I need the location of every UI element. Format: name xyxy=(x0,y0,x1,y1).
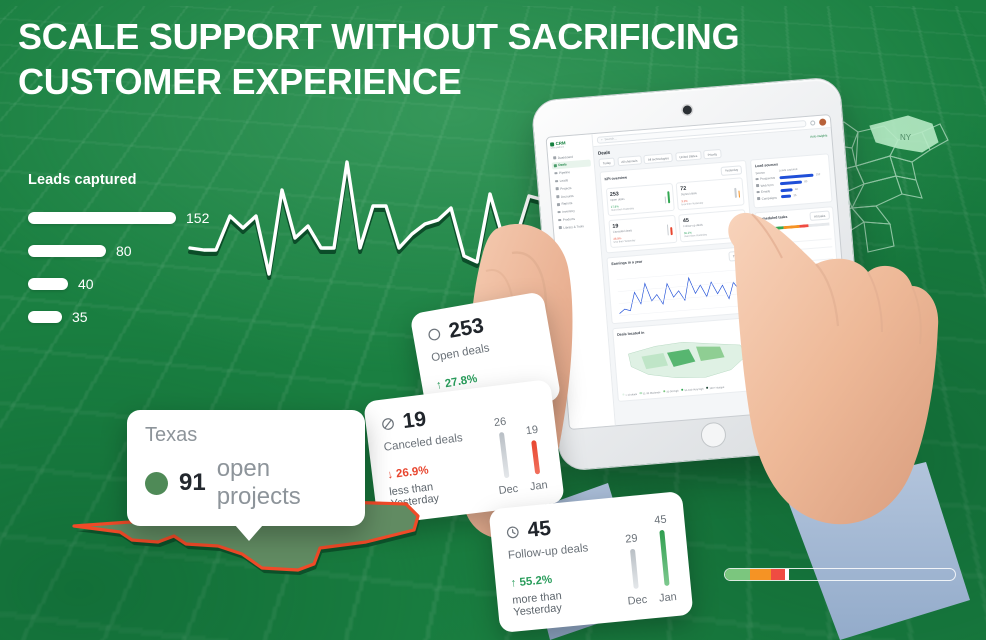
mini-bar-value: 19 xyxy=(525,424,539,437)
inventory-icon xyxy=(557,211,560,214)
kpi-label: Open deals xyxy=(610,196,633,202)
sidebar-item-label: Leads xyxy=(560,178,569,183)
card-mini-chart: 26 Dec 19 Jan xyxy=(487,394,548,497)
filter-country[interactable]: United States xyxy=(675,151,702,162)
legend-item: 31-50 High xyxy=(663,389,679,394)
circle-outline-icon xyxy=(426,326,442,342)
source-icon xyxy=(757,191,760,194)
leads-bar xyxy=(28,311,62,323)
grid-icon xyxy=(553,156,556,159)
mini-bar-group: 45 Jan xyxy=(651,513,677,604)
progress-segment-empty xyxy=(789,569,955,580)
kpi-mini-chart xyxy=(734,181,740,197)
card-number: 253 xyxy=(447,314,486,344)
pipeline-icon xyxy=(554,172,557,175)
lead-source-bar xyxy=(781,195,791,199)
search-placeholder: Search... xyxy=(604,136,616,141)
card-body: 45 Follow-up deals ↑ 55.2% more than Yes… xyxy=(505,505,678,618)
delta-value: 55.2% xyxy=(519,574,553,589)
card-label: Follow-up deals xyxy=(507,540,608,562)
texas-tooltip[interactable]: Texas 91 open projects xyxy=(127,410,365,526)
lead-source-bar xyxy=(779,173,813,179)
lead-source-bar xyxy=(780,188,792,192)
progress-segment-orange xyxy=(750,569,771,580)
mini-bar-value: 29 xyxy=(625,532,638,545)
avatar[interactable] xyxy=(819,118,827,126)
sidebar-item-label: Pipeline xyxy=(559,170,570,175)
col-leads: Leads captured xyxy=(779,168,798,172)
leads-captured-chart: Leads captured 152 80 40 35 xyxy=(28,172,248,342)
sidebar-item-label: Dashboard xyxy=(558,154,573,159)
leads-captured-title: Leads captured xyxy=(28,172,248,188)
kpi-label: Signed deals xyxy=(681,191,703,197)
leads-icon xyxy=(555,180,558,183)
sidebar-item-label: Reports xyxy=(561,201,572,206)
leads-bar-value: 152 xyxy=(186,210,209,226)
mini-bar-value: 26 xyxy=(493,416,507,429)
segmented-progress-bar[interactable] xyxy=(724,568,956,581)
card-number: 19 xyxy=(401,407,427,434)
filter-today[interactable]: Today xyxy=(598,157,615,167)
accounts-icon xyxy=(556,195,559,198)
notification-bell-icon[interactable] xyxy=(810,120,815,125)
mini-bar xyxy=(531,440,540,474)
mini-bar-group: 29 Dec xyxy=(621,532,648,608)
sidebar-item-label: Projects xyxy=(560,186,571,191)
kpi-open-deals[interactable]: 253 Open deals 27.8% more than Yesterday xyxy=(605,183,674,217)
poster-canvas: NY FL Scale support without sacrificing … xyxy=(0,0,986,640)
deals-icon xyxy=(554,164,557,167)
logo-mark-icon xyxy=(550,142,554,146)
lead-source-value: 80 xyxy=(804,180,807,183)
delta-arrow-down-icon: ↓ xyxy=(387,469,394,482)
delta-value: 26.9% xyxy=(395,465,429,481)
source-icon xyxy=(756,184,759,187)
logo-text: CRM xyxy=(555,140,565,146)
lead-source-value: 152 xyxy=(816,173,821,176)
lead-source-value: 35 xyxy=(793,194,796,197)
tooltip-value-row: 91 open projects xyxy=(145,455,347,511)
tooltip-count: 91 xyxy=(179,469,206,497)
page-heading: Deals xyxy=(598,150,611,156)
kpi-mini-chart xyxy=(666,219,672,235)
filter-channels[interactable]: All channels xyxy=(617,155,642,166)
tablet-camera-icon xyxy=(682,105,692,115)
leads-bar-row: 40 xyxy=(28,276,248,292)
leads-bar-row: 35 xyxy=(28,309,248,325)
cancel-circle-icon xyxy=(380,416,396,432)
card-mini-chart: 29 Dec 45 Jan xyxy=(619,505,677,607)
tooltip-label: open projects xyxy=(217,455,347,511)
card-followup-deals[interactable]: 45 Follow-up deals ↑ 55.2% more than Yes… xyxy=(489,491,694,633)
leads-bar-value: 80 xyxy=(116,243,132,259)
leads-bar-value: 35 xyxy=(72,309,88,325)
lead-source-value: 40 xyxy=(795,188,798,191)
col-source: Source xyxy=(755,169,776,175)
filter-priority[interactable]: Priority xyxy=(703,149,721,160)
mini-bar-value: 45 xyxy=(654,514,667,527)
kpi-mini-chart xyxy=(663,187,669,203)
svg-text:NY: NY xyxy=(900,133,912,142)
leads-bar-row: 152 xyxy=(28,210,248,226)
card-number: 45 xyxy=(527,517,553,543)
mini-bar-group: 19 Jan xyxy=(522,424,548,494)
mini-bar xyxy=(659,530,669,586)
projects-icon xyxy=(556,188,559,191)
source-icon xyxy=(756,178,759,181)
compare-selector[interactable]: Yesterday xyxy=(721,165,743,176)
reports-icon xyxy=(557,203,560,206)
mini-bar-label: Jan xyxy=(659,591,678,605)
delta-arrow-up-icon: ↑ xyxy=(435,379,443,392)
card-sub: more than Yesterday xyxy=(512,585,615,619)
mini-bar-label: Dec xyxy=(627,594,648,608)
leads-bar xyxy=(28,245,106,257)
kpi-panel-title: KPI overview xyxy=(604,175,627,181)
mini-bar-label: Dec xyxy=(498,483,519,497)
clock-icon xyxy=(505,525,520,540)
mini-bar xyxy=(630,549,639,589)
leads-bar-value: 40 xyxy=(78,276,94,292)
kpi-sub: more than Yesterday xyxy=(611,207,634,212)
auto-insights-link[interactable]: Auto insights xyxy=(810,133,827,138)
card-header: 45 xyxy=(505,511,608,545)
mini-bar xyxy=(499,432,510,478)
sidebar-item-label: Accounts xyxy=(561,193,574,198)
filter-technologies[interactable]: All technologies xyxy=(643,153,673,164)
leads-bar xyxy=(28,278,68,290)
mini-bar-group: 26 Dec xyxy=(490,415,519,497)
delta-arrow-up-icon: ↑ xyxy=(510,577,517,589)
leads-bar xyxy=(28,212,176,224)
mini-bar-label: Jan xyxy=(529,479,548,493)
search-icon: ⌕ xyxy=(601,137,603,141)
sidebar-item-label: Deals xyxy=(558,163,567,168)
leads-bar-row: 80 xyxy=(28,243,248,259)
lead-source-bar xyxy=(780,181,802,186)
sidebar-item-label: Inventory xyxy=(562,209,575,214)
status-dot-icon xyxy=(145,472,168,495)
progress-segment-green xyxy=(725,569,750,580)
progress-segment-red xyxy=(771,569,785,580)
tooltip-state-name: Texas xyxy=(145,424,347,447)
